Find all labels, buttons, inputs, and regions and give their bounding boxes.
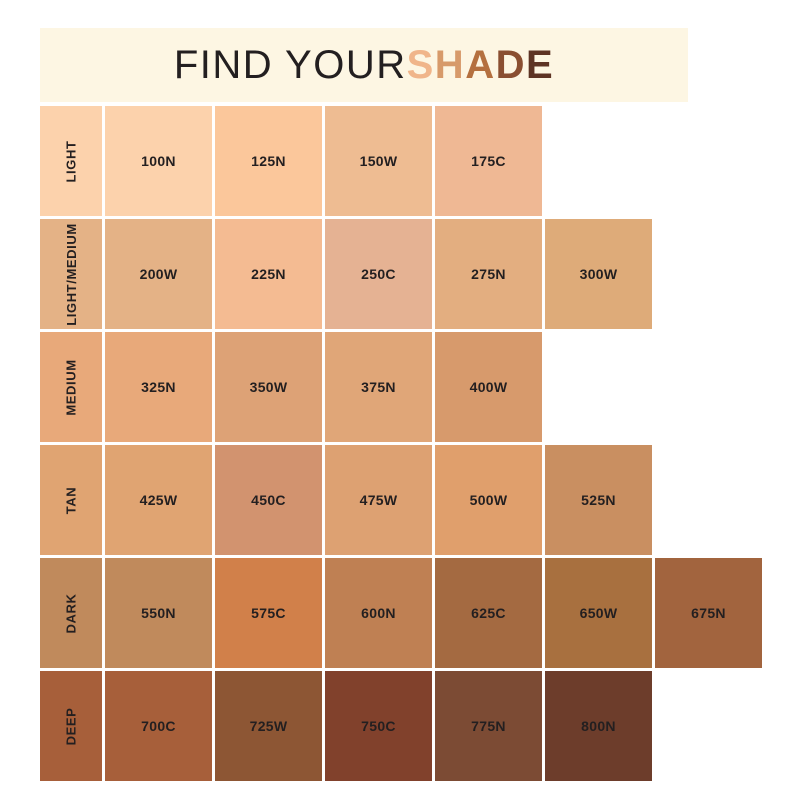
shade-swatch-700C[interactable]: 700C (105, 671, 212, 781)
shade-swatch-625C[interactable]: 625C (435, 558, 542, 668)
shade-swatch-275N[interactable]: 275N (435, 219, 542, 329)
shade-swatch-100N[interactable]: 100N (105, 106, 212, 216)
shade-swatch-label: 450C (251, 492, 286, 508)
shade-chart-page: FIND YOUR SHADE LIGHT100N125N150W175CLIG… (0, 0, 800, 800)
row-label-text: LIGHT (64, 140, 79, 182)
header-banner: FIND YOUR SHADE (40, 28, 688, 102)
shade-swatch-label: 750C (361, 718, 396, 734)
shade-row: LIGHT/MEDIUM200W225N250C275N300W (40, 219, 765, 329)
shade-swatch-250C[interactable]: 250C (325, 219, 432, 329)
shade-swatch-label: 350W (250, 379, 288, 395)
shade-swatch-775N[interactable]: 775N (435, 671, 542, 781)
shade-swatch-175C[interactable]: 175C (435, 106, 542, 216)
row-label-medium: MEDIUM (40, 332, 102, 442)
shade-swatch-label: 525N (581, 492, 616, 508)
shade-swatch-425W[interactable]: 425W (105, 445, 212, 555)
shade-swatch-label: 800N (581, 718, 616, 734)
shade-swatch-label: 375N (361, 379, 396, 395)
shade-swatch-label: 225N (251, 266, 286, 282)
shade-swatch-300W[interactable]: 300W (545, 219, 652, 329)
shade-swatch-550N[interactable]: 550N (105, 558, 212, 668)
shade-swatch-label: 300W (580, 266, 618, 282)
shade-swatch-label: 725W (250, 718, 288, 734)
page-title: FIND YOUR SHADE (174, 45, 554, 85)
row-label-text: DEEP (64, 707, 79, 745)
shade-swatch-label: 775N (471, 718, 506, 734)
shade-swatch-label: 400W (470, 379, 508, 395)
shade-swatch-225N[interactable]: 225N (215, 219, 322, 329)
shade-swatch-label: 125N (251, 153, 286, 169)
shade-row: MEDIUM325N350W375N400W (40, 332, 765, 442)
row-label-light-medium: LIGHT/MEDIUM (40, 219, 102, 329)
title-plain-text: FIND YOUR (174, 45, 407, 85)
shade-swatch-725W[interactable]: 725W (215, 671, 322, 781)
shade-swatch-label: 600N (361, 605, 396, 621)
title-accent-letter-e-4: E (526, 45, 554, 85)
shade-swatch-label: 700C (141, 718, 176, 734)
shade-row: LIGHT100N125N150W175C (40, 106, 765, 216)
title-accent-letter-h-1: H (435, 45, 465, 85)
row-label-text: MEDIUM (63, 359, 78, 415)
shade-swatch-350W[interactable]: 350W (215, 332, 322, 442)
shade-swatch-125N[interactable]: 125N (215, 106, 322, 216)
shade-swatch-575C[interactable]: 575C (215, 558, 322, 668)
title-accent-letter-d-3: D (496, 45, 526, 85)
row-label-text: TAN (64, 486, 79, 514)
shade-swatch-label: 250C (361, 266, 396, 282)
shade-swatch-475W[interactable]: 475W (325, 445, 432, 555)
shade-swatch-label: 325N (141, 379, 176, 395)
shade-swatch-325N[interactable]: 325N (105, 332, 212, 442)
shade-row: DEEP700C725W750C775N800N (40, 671, 765, 781)
row-label-text: DARK (63, 593, 78, 633)
shade-row: TAN425W450C475W500W525N (40, 445, 765, 555)
shade-swatch-800N[interactable]: 800N (545, 671, 652, 781)
shade-swatch-label: 175C (471, 153, 506, 169)
shade-swatch-label: 550N (141, 605, 176, 621)
shade-swatch-label: 500W (470, 492, 508, 508)
title-accent-letter-a-2: A (465, 45, 495, 85)
shade-swatch-label: 100N (141, 153, 176, 169)
row-label-dark: DARK (40, 558, 102, 668)
row-label-deep: DEEP (40, 671, 102, 781)
shade-swatch-label: 425W (140, 492, 178, 508)
shade-swatch-label: 150W (360, 153, 398, 169)
shade-swatch-label: 200W (140, 266, 178, 282)
shade-swatch-375N[interactable]: 375N (325, 332, 432, 442)
shade-swatch-label: 475W (360, 492, 398, 508)
shade-swatch-label: 675N (691, 605, 726, 621)
row-label-light: LIGHT (40, 106, 102, 216)
row-label-text: LIGHT/MEDIUM (64, 223, 79, 326)
shade-swatch-600N[interactable]: 600N (325, 558, 432, 668)
shade-grid: LIGHT100N125N150W175CLIGHT/MEDIUM200W225… (40, 106, 765, 784)
shade-swatch-label: 275N (471, 266, 506, 282)
shade-row: DARK550N575C600N625C650W675N (40, 558, 765, 668)
title-accent-letter-s-0: S (407, 45, 435, 85)
shade-swatch-450C[interactable]: 450C (215, 445, 322, 555)
shade-swatch-400W[interactable]: 400W (435, 332, 542, 442)
shade-swatch-200W[interactable]: 200W (105, 219, 212, 329)
shade-swatch-525N[interactable]: 525N (545, 445, 652, 555)
shade-swatch-650W[interactable]: 650W (545, 558, 652, 668)
shade-swatch-label: 625C (471, 605, 506, 621)
title-accent-text: SHADE (407, 45, 555, 85)
row-label-tan: TAN (40, 445, 102, 555)
shade-swatch-label: 650W (580, 605, 618, 621)
shade-swatch-500W[interactable]: 500W (435, 445, 542, 555)
shade-swatch-label: 575C (251, 605, 286, 621)
shade-swatch-750C[interactable]: 750C (325, 671, 432, 781)
shade-swatch-675N[interactable]: 675N (655, 558, 762, 668)
shade-swatch-150W[interactable]: 150W (325, 106, 432, 216)
